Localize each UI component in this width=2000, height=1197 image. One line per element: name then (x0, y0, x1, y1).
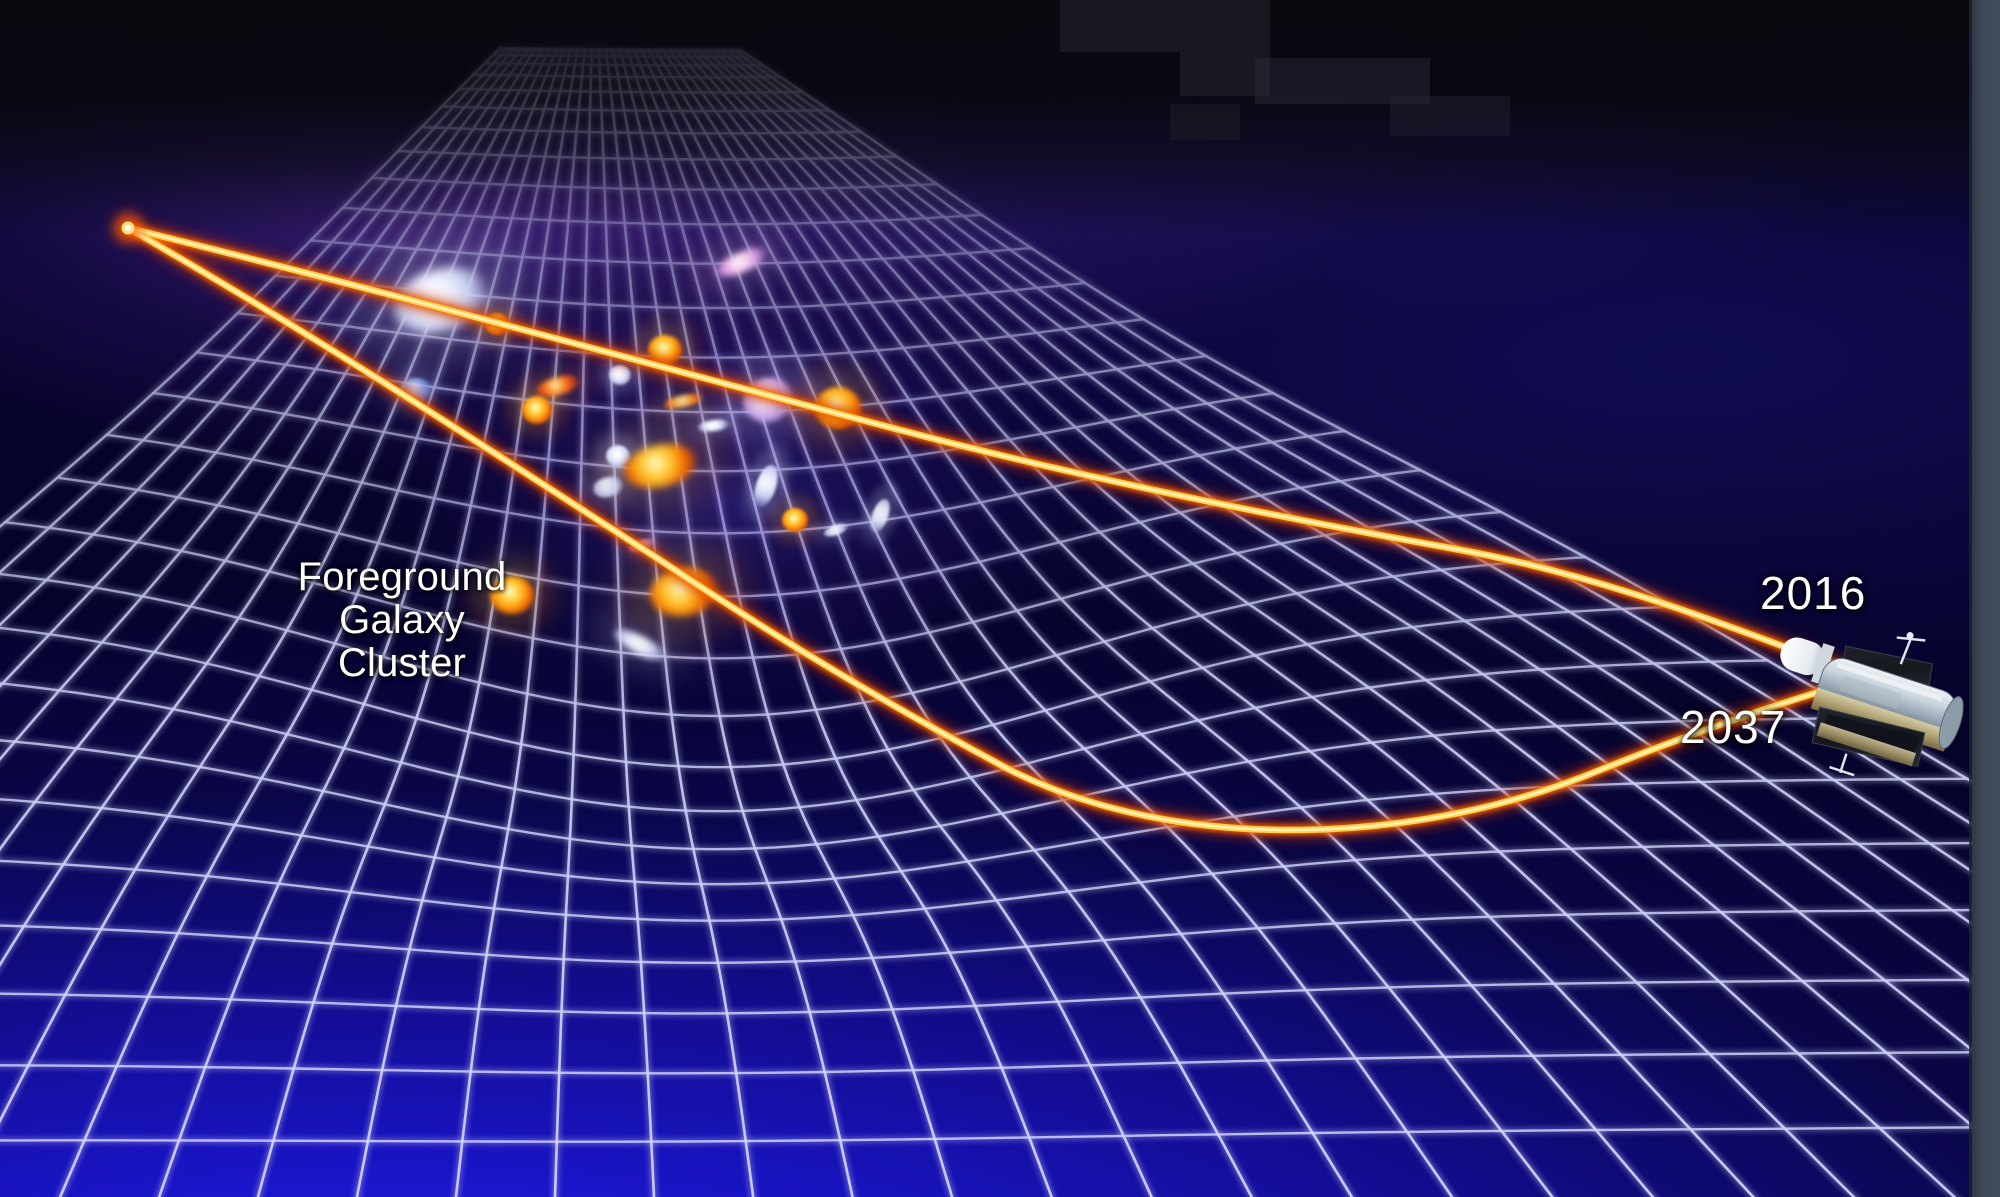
foreground-cluster-label: Foreground Galaxy Cluster (262, 556, 542, 686)
ray-2037-halo (128, 228, 1870, 830)
letterbox-border-right (1972, 0, 2000, 1197)
frame-divider (1969, 0, 1972, 1197)
cluster-label-line3: Cluster (262, 642, 542, 685)
cluster-label-line1: Foreground (262, 556, 542, 599)
scene-root: Foreground Galaxy Cluster 2016 2037 (0, 0, 2000, 1197)
gravitational-lensing-illustration: Foreground Galaxy Cluster 2016 2037 (0, 0, 2000, 1197)
distant-supernova-source (113, 213, 143, 243)
ray-2037-core (128, 228, 1870, 830)
cluster-label-line2: Galaxy (262, 599, 542, 642)
telescope-antenna-lower (1829, 750, 1860, 777)
